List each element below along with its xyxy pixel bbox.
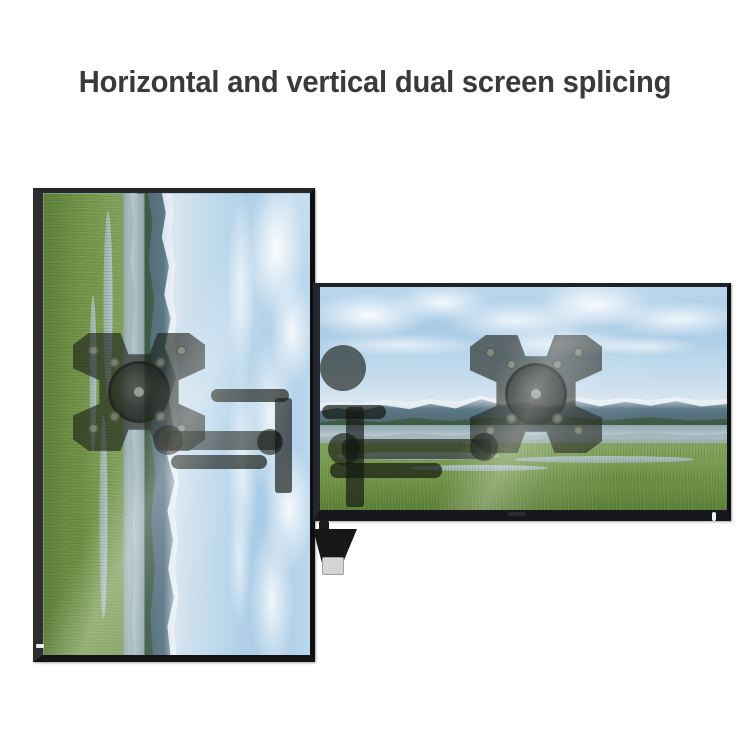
wallpaper-clouds: [320, 287, 727, 416]
desk-clamp[interactable]: [305, 521, 365, 583]
portrait-monitor[interactable]: [33, 188, 315, 662]
desk-clamp-knob[interactable]: [322, 557, 344, 575]
wallpaper-grass-texture: [43, 193, 123, 655]
product-scene: [0, 0, 750, 750]
landscape-monitor[interactable]: [313, 283, 731, 521]
wallpaper-clouds: [155, 193, 310, 655]
landscape-power-led-icon: [712, 512, 716, 521]
portrait-power-led-icon: [36, 644, 44, 648]
portrait-monitor-screen: [43, 193, 310, 655]
landscape-bezel-notch: [508, 512, 526, 516]
landscape-monitor-screen: [320, 287, 727, 510]
wallpaper-mountain-lake: [320, 287, 727, 510]
wallpaper-grass-texture: [320, 443, 727, 510]
portrait-wallpaper-rotation: [43, 193, 310, 655]
wallpaper-mountain-lake: [43, 193, 310, 655]
